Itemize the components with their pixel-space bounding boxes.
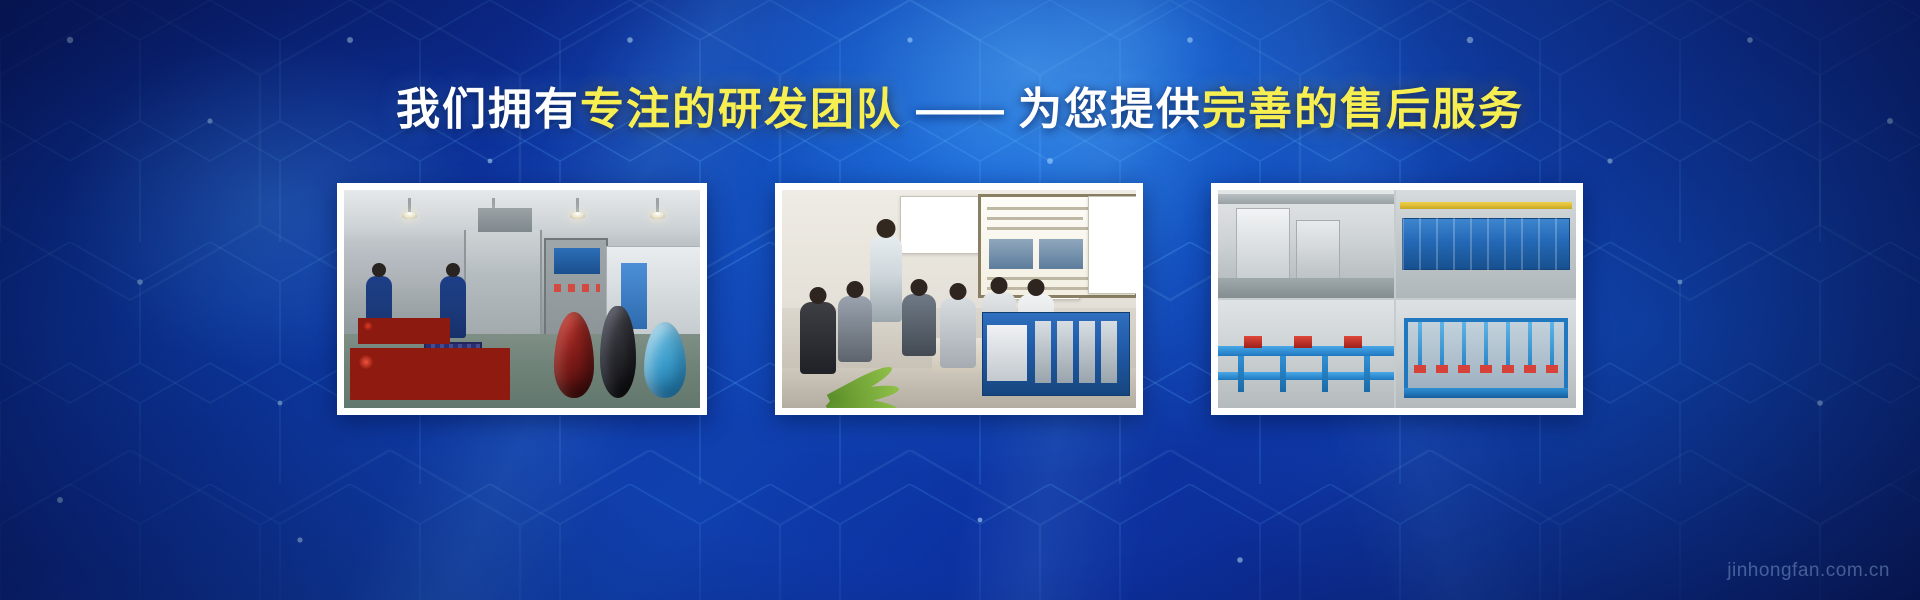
panel-screen [554, 248, 600, 274]
equipment-unit [982, 312, 1130, 396]
attendee [902, 294, 936, 356]
headline-part-2-highlight: 专注的研发团队 [580, 85, 902, 134]
promo-banner: 我们拥有专注的研发团队——为您提供完善的售后服务 [0, 0, 1920, 600]
photo-production-line [344, 190, 700, 408]
photo-card-row [0, 183, 1920, 415]
site-watermark: jinhongfan.com.cn [1727, 560, 1890, 582]
wall-board [900, 196, 986, 254]
photo-card-production-line[interactable] [337, 183, 707, 415]
presenter [870, 236, 902, 322]
photo-equipment-collage [1218, 190, 1576, 408]
collage-quadrant-bottom-left [1218, 300, 1394, 408]
glass-vase-dark [600, 306, 636, 398]
panel-indicators [554, 284, 600, 292]
attendee [940, 298, 976, 368]
headline-dash: —— [902, 85, 1018, 134]
wall-board [1088, 196, 1136, 294]
photo-card-team-meeting[interactable] [775, 183, 1143, 415]
ceiling-lamp [576, 198, 579, 214]
ceiling-lamp [656, 198, 659, 214]
red-spheres-upper [358, 318, 450, 344]
photo-card-equipment-collage[interactable] [1211, 183, 1583, 415]
headline-part-3: 为您提供 [1018, 85, 1202, 134]
headline-part-1: 我们拥有 [396, 85, 580, 134]
headline-part-4-highlight: 完善的售后服务 [1202, 85, 1524, 134]
ceiling-lamp [408, 198, 411, 214]
potted-plant [790, 338, 886, 408]
collage-quadrant-top-right [1396, 190, 1576, 298]
collage-quadrant-top-left [1218, 190, 1394, 298]
collage-quadrant-bottom-right [1396, 300, 1576, 408]
photo-team-meeting [782, 190, 1136, 408]
banner-headline: 我们拥有专注的研发团队——为您提供完善的售后服务 [0, 82, 1920, 137]
red-spheres-lower [350, 348, 510, 400]
